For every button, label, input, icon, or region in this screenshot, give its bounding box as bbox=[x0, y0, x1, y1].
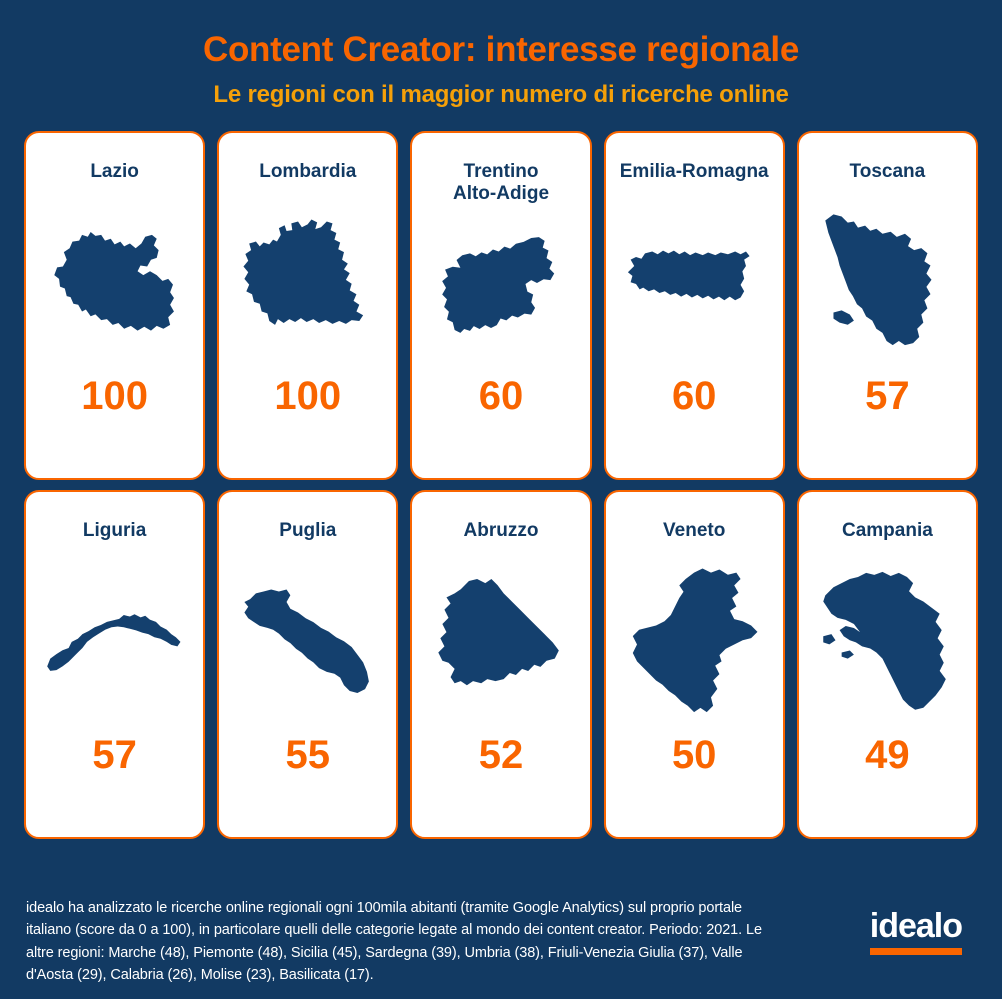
idealo-logo: idealo bbox=[870, 909, 962, 955]
region-value: 49 bbox=[865, 735, 910, 775]
region-value: 57 bbox=[92, 735, 137, 775]
lazio-map-icon bbox=[26, 183, 203, 376]
lombardia-map-icon bbox=[219, 183, 396, 376]
region-name: Campania bbox=[836, 520, 939, 542]
region-name: Lazio bbox=[84, 161, 145, 183]
region-value: 57 bbox=[865, 376, 910, 416]
header: Content Creator: interesse regionale Le … bbox=[0, 0, 1002, 110]
logo-wordmark: idealo bbox=[870, 909, 962, 943]
region-name: Puglia bbox=[273, 520, 342, 542]
region-value: 50 bbox=[672, 735, 717, 775]
region-value: 60 bbox=[672, 376, 717, 416]
region-name: Trentino Alto-Adige bbox=[447, 161, 555, 206]
region-name: Liguria bbox=[77, 520, 152, 542]
page-subtitle: Le regioni con il maggior numero di rice… bbox=[0, 81, 1002, 110]
region-card-puglia[interactable]: Puglia 55 bbox=[217, 490, 398, 839]
campania-map-icon bbox=[799, 542, 976, 735]
region-card-lombardia[interactable]: Lombardia 100 bbox=[217, 131, 398, 480]
page-title: Content Creator: interesse regionale bbox=[0, 30, 1002, 70]
footer-note: idealo ha analizzato le ricerche online … bbox=[26, 897, 791, 987]
region-card-emilia-romagna[interactable]: Emilia-Romagna 60 bbox=[604, 131, 785, 480]
toscana-map-icon bbox=[799, 183, 976, 376]
puglia-map-icon bbox=[219, 542, 396, 735]
region-card-trentino-alto-adige[interactable]: Trentino Alto-Adige 60 bbox=[410, 131, 591, 480]
region-value: 60 bbox=[479, 376, 524, 416]
veneto-map-icon bbox=[606, 542, 783, 735]
abruzzo-map-icon bbox=[412, 542, 589, 735]
region-name: Abruzzo bbox=[458, 520, 545, 542]
logo-underline-bar bbox=[870, 948, 962, 955]
region-name: Veneto bbox=[657, 520, 731, 542]
region-name: Lombardia bbox=[253, 161, 362, 183]
region-value: 100 bbox=[274, 376, 341, 416]
region-card-abruzzo[interactable]: Abruzzo 52 bbox=[410, 490, 591, 839]
region-name: Emilia-Romagna bbox=[614, 161, 775, 183]
region-value: 100 bbox=[81, 376, 148, 416]
region-value: 52 bbox=[479, 735, 524, 775]
region-card-veneto[interactable]: Veneto 50 bbox=[604, 490, 785, 839]
trentino-alto-adige-map-icon bbox=[412, 206, 589, 376]
region-card-lazio[interactable]: Lazio 100 bbox=[24, 131, 205, 480]
region-card-liguria[interactable]: Liguria 57 bbox=[24, 490, 205, 839]
region-card-grid: Lazio 100 Lombardia 100 Trentino Alto-Ad… bbox=[24, 131, 978, 839]
region-name: Toscana bbox=[844, 161, 932, 183]
region-card-toscana[interactable]: Toscana 57 bbox=[797, 131, 978, 480]
liguria-map-icon bbox=[26, 542, 203, 735]
emilia-romagna-map-icon bbox=[606, 183, 783, 376]
region-value: 55 bbox=[286, 735, 331, 775]
region-card-campania[interactable]: Campania 49 bbox=[797, 490, 978, 839]
footer: idealo ha analizzato le ricerche online … bbox=[26, 897, 978, 987]
